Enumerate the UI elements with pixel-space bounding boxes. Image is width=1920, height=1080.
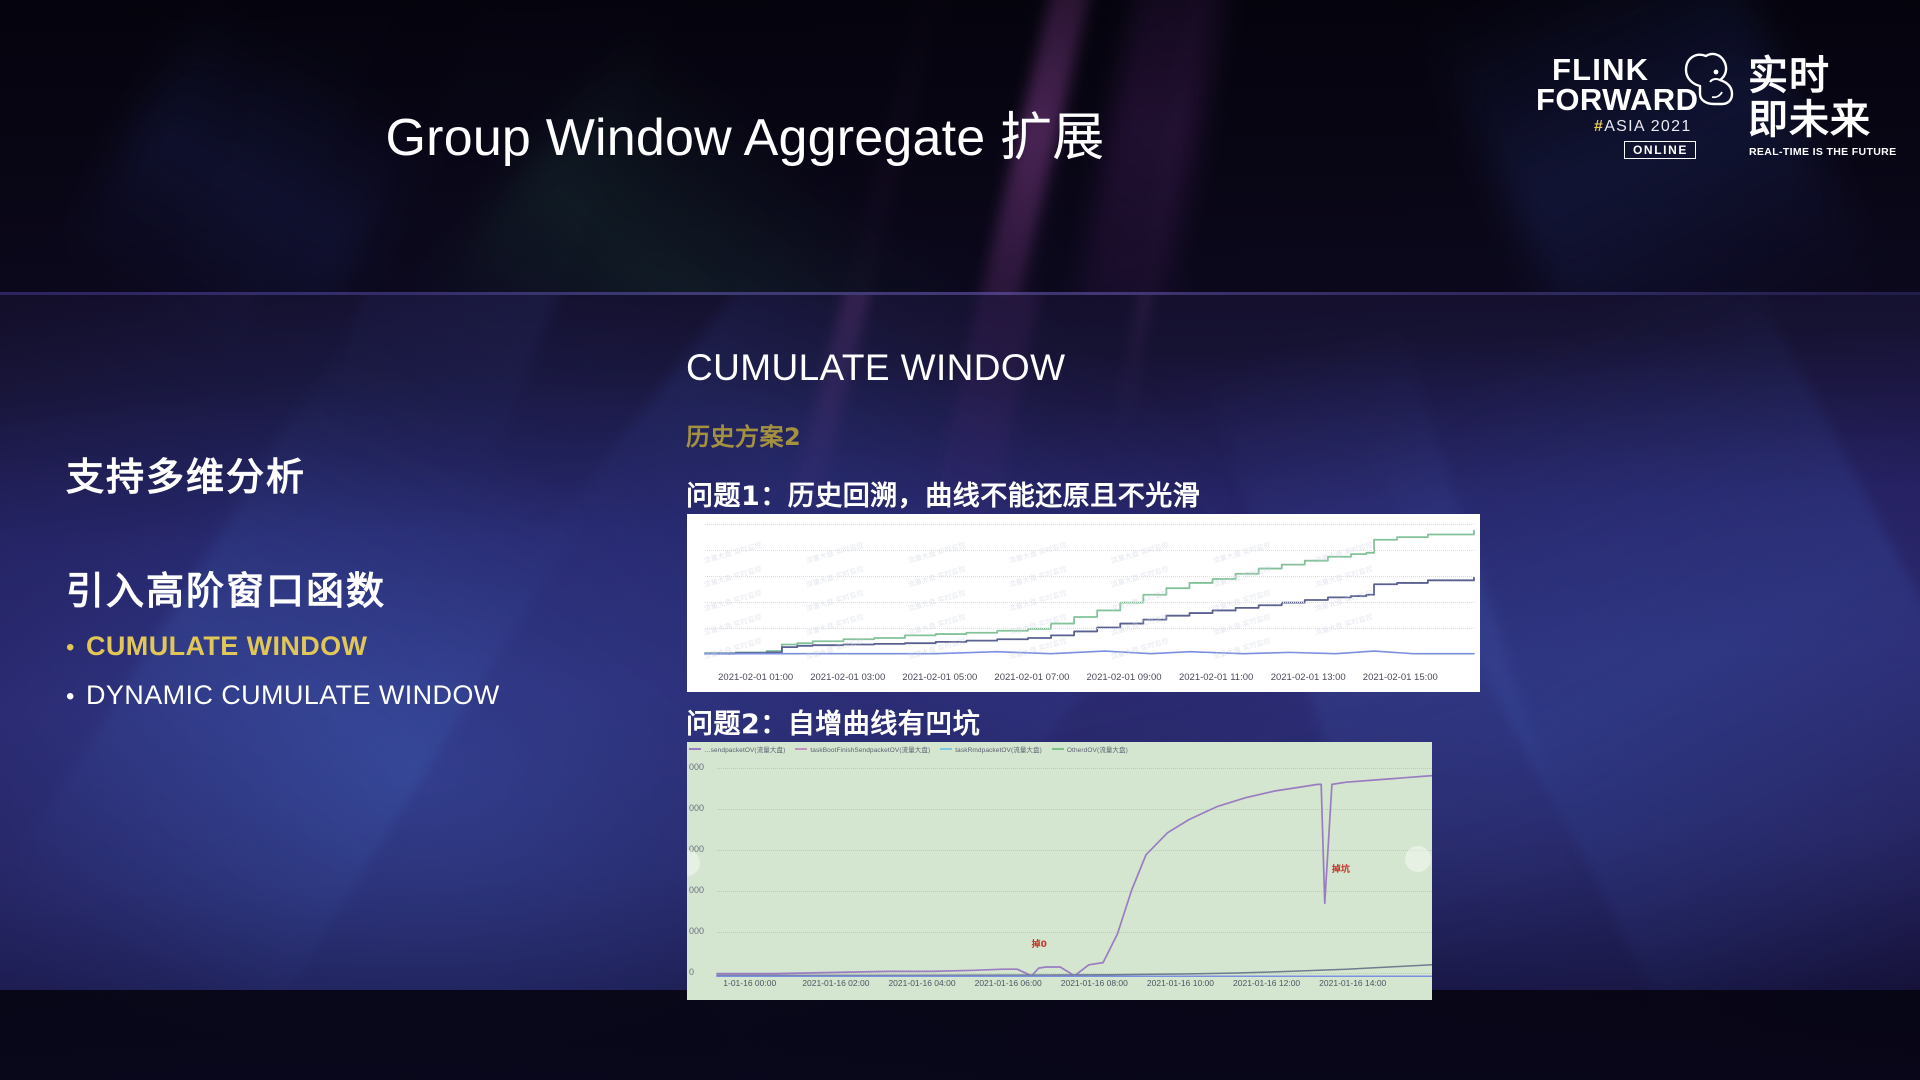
left-heading-multidimensional: 支持多维分析	[66, 455, 606, 501]
chart2-x-tick: 2021-01-16 12:00	[1233, 978, 1300, 988]
chart2-legend-item: taskBootFinishSendpacketOV(流量大盘)	[795, 744, 930, 754]
chart1-plot-area: 流量大盘 实时监控流量大盘 实时监控流量大盘 实时监控流量大盘 实时监控流量大盘…	[687, 514, 1480, 662]
chart1-x-tick: 2021-02-01 05:00	[902, 672, 977, 683]
list-item[interactable]: • DYNAMIC CUMULATE WINDOW	[66, 679, 606, 711]
header-divider	[0, 292, 1920, 295]
logo-line-flink: FLINK	[1552, 54, 1649, 85]
chart1-x-tick: 2021-02-01 07:00	[994, 672, 1069, 683]
chart-history-backtrack: 流量大盘 实时监控流量大盘 实时监控流量大盘 实时监控流量大盘 实时监控流量大盘…	[687, 514, 1480, 692]
presentation-slide: Group Window Aggregate 扩展 FLINK FORWARD …	[0, 0, 1920, 1080]
logo-tagline: REAL-TIME IS THE FUTURE	[1749, 146, 1896, 158]
flink-forward-logo: FLINK FORWARD #ASIA 2021 ONLINE 实时 即未来 R…	[1552, 52, 1882, 168]
chart2-x-tick: 1-01-16 00:00	[723, 978, 776, 988]
chart2-annotation: 掉坑	[1332, 862, 1350, 875]
chart2-series-svg	[687, 754, 1432, 982]
slogan-line-1: 实时	[1748, 56, 1830, 96]
legend-label: taskRmdpacketOV(流量大盘)	[955, 744, 1042, 754]
chart1-gridlines	[705, 524, 1474, 654]
chart1-x-tick: 2021-02-01 03:00	[810, 672, 885, 683]
chart2-x-tick: 2021-01-16 08:00	[1061, 978, 1128, 988]
chart2-legend-item: …sendpacketOV(流量大盘)	[689, 744, 785, 754]
bullet-dot-icon: •	[66, 636, 86, 660]
chart1-x-tick: 2021-02-01 13:00	[1271, 672, 1346, 683]
slide-footer-band	[0, 990, 1920, 1080]
bullet-dot-icon: •	[66, 685, 86, 709]
page-title: Group Window Aggregate 扩展	[0, 95, 1490, 170]
chart2-annotation: 掉0	[1032, 937, 1047, 950]
left-content-column: 支持多维分析 引入高阶窗口函数 • CUMULATE WINDOW • DYNA…	[66, 455, 606, 727]
chart2-x-tick: 2021-01-16 02:00	[802, 978, 869, 988]
bullet-label-cumulate-window: CUMULATE WINDOW	[86, 630, 367, 662]
list-item[interactable]: • CUMULATE WINDOW	[66, 630, 606, 662]
slogan-line-2: 即未来	[1748, 100, 1871, 140]
question-1-label: 问题1：历史回溯，曲线不能还原且不光滑	[686, 474, 1506, 513]
logo-event-name: #ASIA 2021	[1594, 119, 1692, 135]
section-title-cumulate-window: CUMULATE WINDOW	[686, 348, 1506, 389]
chart1-x-tick: 2021-02-01 11:00	[1179, 672, 1253, 683]
legend-color-swatch	[795, 748, 807, 750]
chart2-legend-item: taskRmdpacketOV(流量大盘)	[940, 744, 1042, 754]
hash-symbol: #	[1594, 118, 1604, 135]
legend-color-swatch	[1052, 748, 1064, 750]
chart2-x-tick: 2021-01-16 04:00	[888, 978, 955, 988]
chart1-x-tick: 2021-02-01 09:00	[1087, 672, 1162, 683]
section-subtitle-historical-plan: 历史方案2	[686, 417, 1506, 452]
legend-color-swatch	[689, 748, 701, 750]
chart1-x-axis: 2021-02-01 01:002021-02-01 03:002021-02-…	[687, 662, 1480, 692]
chart2-x-tick: 2021-01-16 14:00	[1319, 978, 1386, 988]
squirrel-icon	[1676, 48, 1740, 108]
chart2-x-axis: 1-01-16 00:002021-01-16 02:002021-01-16 …	[687, 978, 1432, 1000]
legend-label: OtherdOV(流量大盘)	[1067, 744, 1128, 754]
right-content-column: CUMULATE WINDOW 历史方案2 问题1：历史回溯，曲线不能还原且不光…	[686, 348, 1506, 513]
left-bullet-list: • CUMULATE WINDOW • DYNAMIC CUMULATE WIN…	[66, 630, 606, 711]
chart2-plot-area	[687, 754, 1432, 982]
logo-chinese-slogan: 实时 即未来 REAL-TIME IS THE FUTURE	[1748, 50, 1888, 168]
legend-label: …sendpacketOV(流量大盘)	[704, 744, 785, 754]
logo-wordmark: FLINK FORWARD #ASIA 2021 ONLINE	[1552, 52, 1742, 168]
logo-event-label: ASIA 2021	[1604, 118, 1691, 135]
legend-color-swatch	[940, 748, 952, 750]
legend-label: taskBootFinishSendpacketOV(流量大盘)	[810, 744, 930, 754]
chart2-x-tick: 2021-01-16 10:00	[1147, 978, 1214, 988]
chart2-legend-item: OtherdOV(流量大盘)	[1052, 744, 1128, 754]
left-heading-window-functions: 引入高阶窗口函数	[66, 569, 606, 615]
chart2-decorative-orb-right	[1405, 846, 1431, 872]
chart2-x-tick: 2021-01-16 06:00	[975, 978, 1042, 988]
chart-self-increment-dips: …sendpacketOV(流量大盘)taskBootFinishSendpac…	[687, 742, 1432, 1000]
bullet-label-dynamic-cumulate-window: DYNAMIC CUMULATE WINDOW	[86, 679, 500, 711]
logo-online-badge: ONLINE	[1624, 141, 1696, 159]
logo-line-forward: FORWARD	[1536, 84, 1698, 115]
chart1-x-tick: 2021-02-01 15:00	[1363, 672, 1438, 683]
question-2-label: 问题2：自增曲线有凹坑	[686, 702, 980, 741]
chart1-x-tick: 2021-02-01 01:00	[718, 672, 793, 683]
